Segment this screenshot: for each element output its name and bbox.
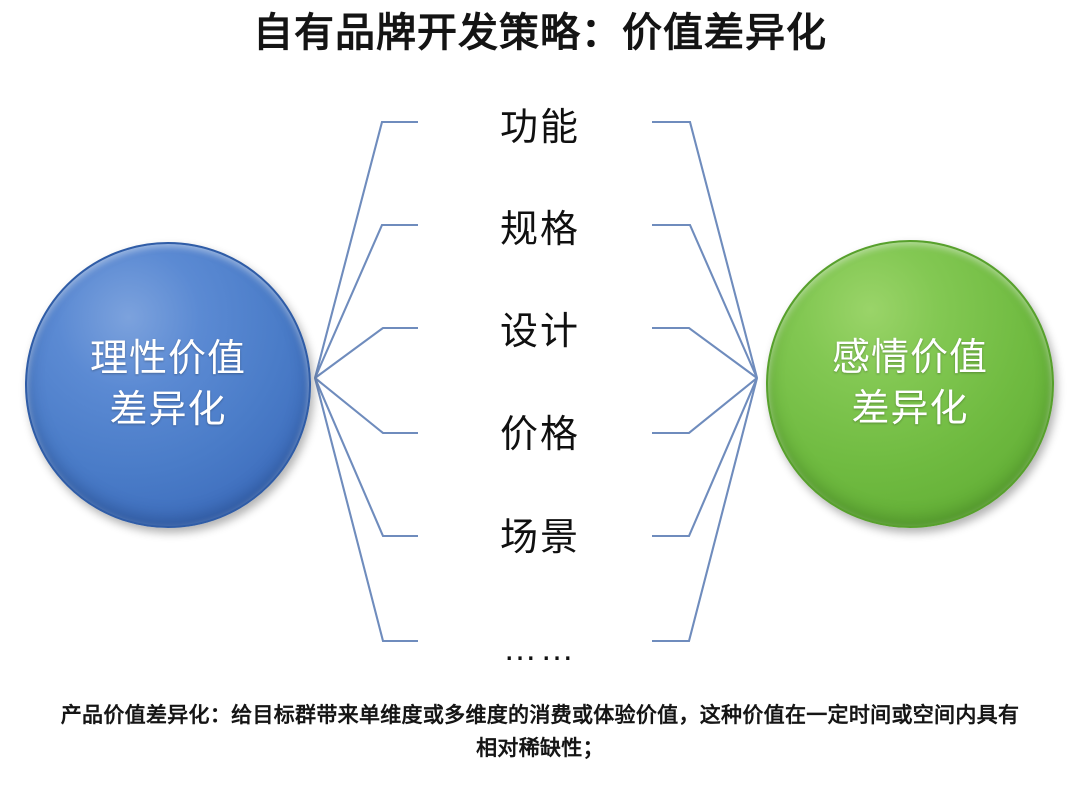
attribute-item-price: 价格 (400, 416, 680, 454)
page-title: 自有品牌开发策略：价值差异化 (0, 8, 1080, 58)
connector-left-5 (315, 378, 418, 536)
footnote-caption: 产品价值差异化：给目标群带来单维度或多维度的消费或体验价值，这种价值在一定时间或… (60, 700, 1020, 765)
connector-right-5 (652, 378, 757, 536)
attribute-item-design: 设计 (400, 313, 680, 351)
node-rational-label-line2: 差异化 (109, 385, 226, 436)
node-emotional-label-line2: 差异化 (851, 384, 968, 435)
node-emotional-label-line1: 感情价值 (832, 333, 988, 384)
node-rational-label-line1: 理性价值 (90, 334, 246, 385)
attribute-item-scenario: 场景 (400, 519, 680, 557)
slide-canvas: 自有品牌开发策略：价值差异化 理性价值 差异化 感情价值 差异化 功能 规格 设… (0, 0, 1080, 786)
attribute-item-specification: 规格 (400, 211, 680, 249)
attribute-item-ellipsis: …… (400, 632, 680, 666)
node-rational-value-differentiation[interactable]: 理性价值 差异化 (25, 242, 311, 528)
attribute-item-function: 功能 (400, 109, 680, 147)
node-emotional-value-differentiation[interactable]: 感情价值 差异化 (766, 240, 1054, 528)
